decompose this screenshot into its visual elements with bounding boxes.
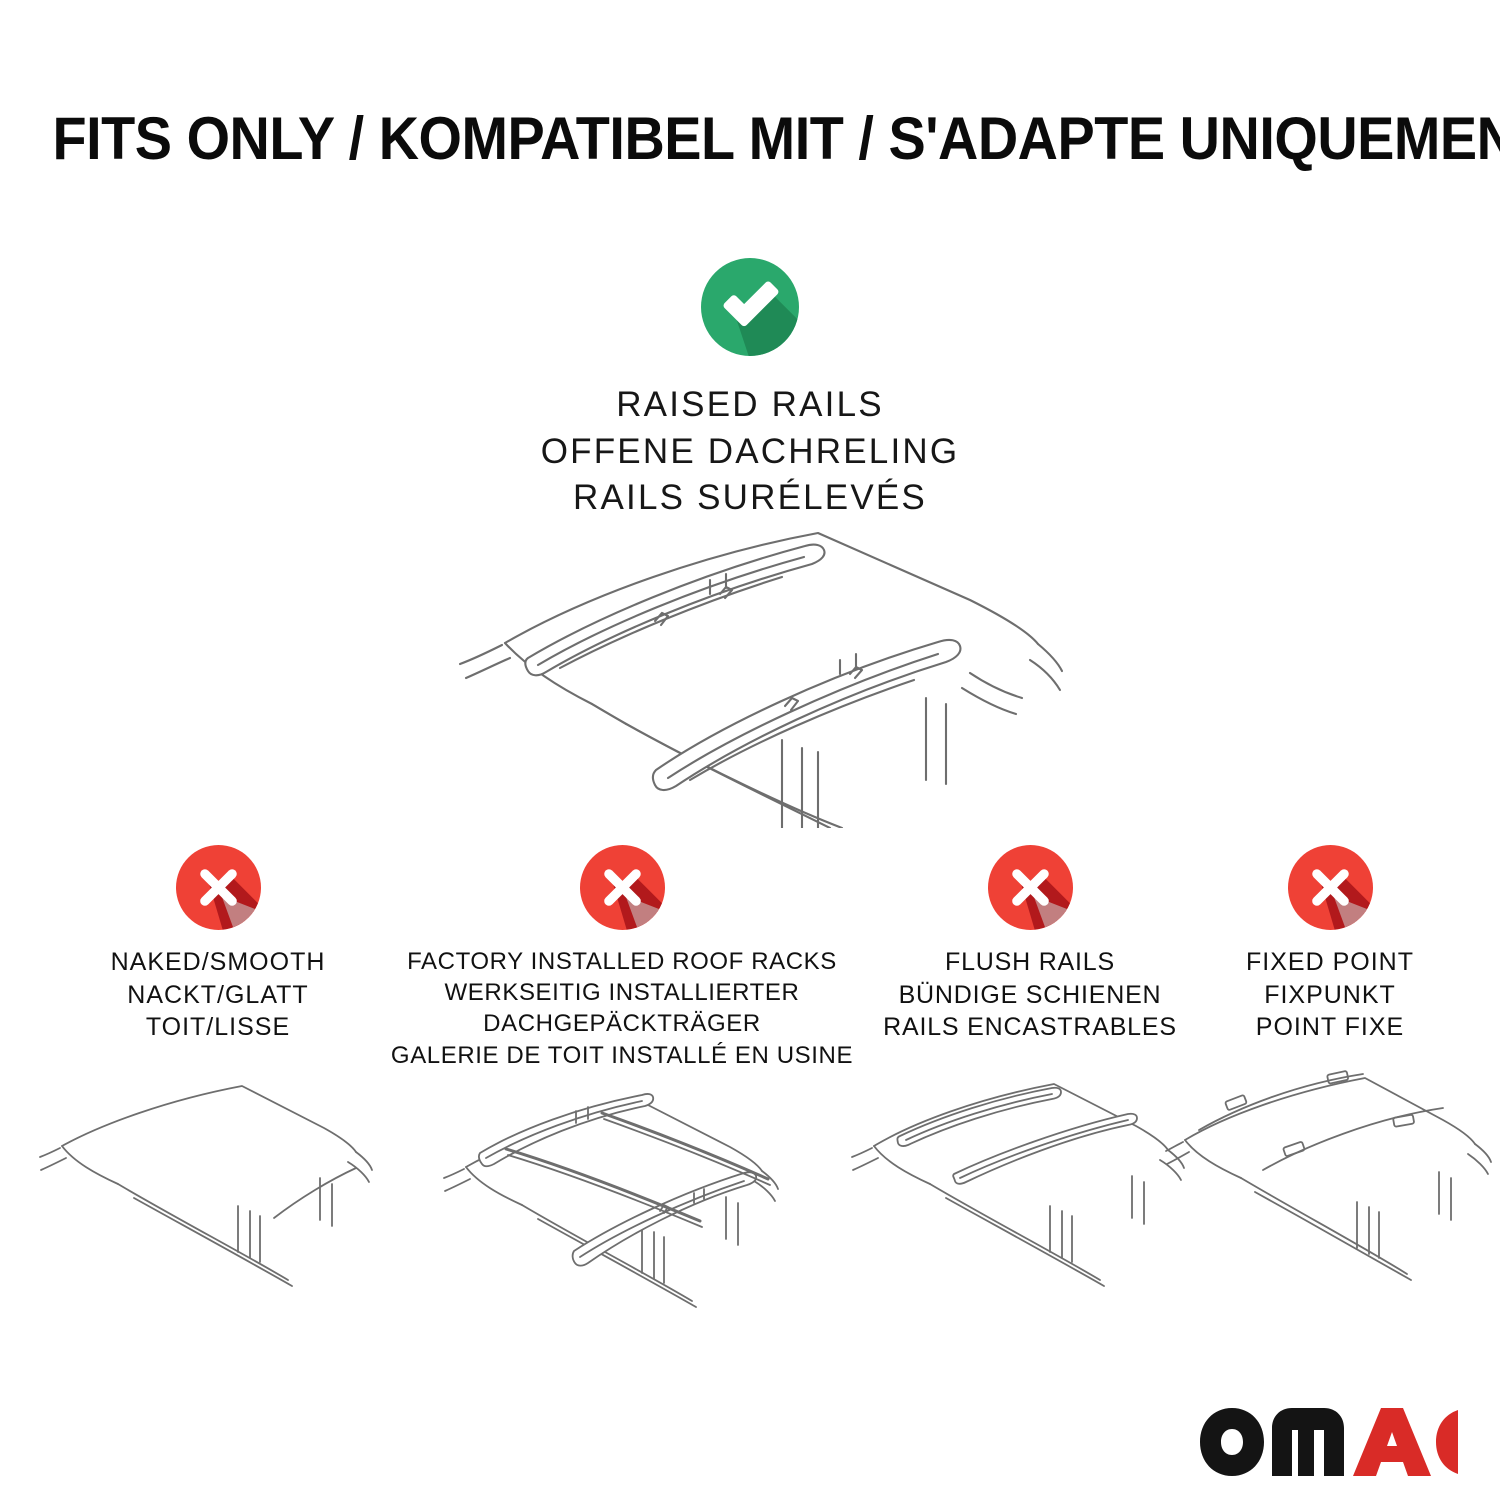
label-line-de: NACKT/GLATT	[111, 979, 326, 1012]
label-line-fr: GALERIE DE TOIT INSTALLÉ EN USINE	[391, 1040, 853, 1071]
check-circle-icon	[701, 258, 799, 356]
car-roof-raised-rails-illustration	[410, 508, 1110, 828]
car-roof-naked-illustration	[38, 1058, 398, 1298]
compatible-label-en: RAISED RAILS	[541, 382, 960, 429]
page-title: FITS ONLY / KOMPATIBEL MIT / S'ADAPTE UN…	[53, 104, 1448, 173]
label-line-en: FLUSH RAILS	[883, 946, 1177, 979]
label-line-en: NAKED/SMOOTH	[111, 946, 326, 979]
omac-logo	[1198, 1406, 1458, 1478]
car-roof-fixed-point-illustration	[1165, 1058, 1495, 1298]
column-labels: FACTORY INSTALLED ROOF RACKS WERKSEITIG …	[391, 946, 853, 1071]
fitment-infographic: FITS ONLY / KOMPATIBEL MIT / S'ADAPTE UN…	[0, 0, 1500, 1500]
column-factory-roof-racks: FACTORY INSTALLED ROOF RACKS WERKSEITIG …	[420, 845, 824, 1325]
compatible-label-de: OFFENE DACHRELING	[541, 429, 960, 476]
column-labels: NAKED/SMOOTH NACKT/GLATT TOIT/LISSE	[111, 946, 326, 1044]
label-line-fr: POINT FIXE	[1246, 1011, 1414, 1044]
x-circle-icon	[1288, 845, 1373, 930]
label-line-de: FIXPUNKT	[1246, 979, 1414, 1012]
label-line-fr: TOIT/LISSE	[111, 1011, 326, 1044]
column-naked-smooth: NAKED/SMOOTH NACKT/GLATT TOIT/LISSE	[16, 845, 420, 1298]
compatible-labels: RAISED RAILS OFFENE DACHRELING RAILS SUR…	[541, 382, 960, 522]
column-fixed-point: FIXED POINT FIXPUNKT POINT FIXE	[1180, 845, 1480, 1298]
column-labels: FIXED POINT FIXPUNKT POINT FIXE	[1246, 946, 1414, 1044]
column-labels: FLUSH RAILS BÜNDIGE SCHIENEN RAILS ENCAS…	[883, 946, 1177, 1044]
incompatible-columns: NAKED/SMOOTH NACKT/GLATT TOIT/LISSE	[0, 845, 1500, 1485]
x-circle-icon	[176, 845, 261, 930]
label-line-en: FACTORY INSTALLED ROOF RACKS	[391, 946, 853, 977]
label-line-en: FIXED POINT	[1246, 946, 1414, 979]
label-line-de-1: WERKSEITIG INSTALLIERTER	[391, 977, 853, 1008]
label-line-de-2: DACHGEPÄCKTRÄGER	[391, 1008, 853, 1039]
compatible-block: RAISED RAILS OFFENE DACHRELING RAILS SUR…	[0, 258, 1500, 522]
label-line-de: BÜNDIGE SCHIENEN	[883, 979, 1177, 1012]
car-roof-flush-rails-illustration	[850, 1058, 1210, 1298]
car-roof-factory-racks-illustration	[442, 1085, 802, 1325]
x-circle-icon	[580, 845, 665, 930]
label-line-fr: RAILS ENCASTRABLES	[883, 1011, 1177, 1044]
x-circle-icon	[988, 845, 1073, 930]
